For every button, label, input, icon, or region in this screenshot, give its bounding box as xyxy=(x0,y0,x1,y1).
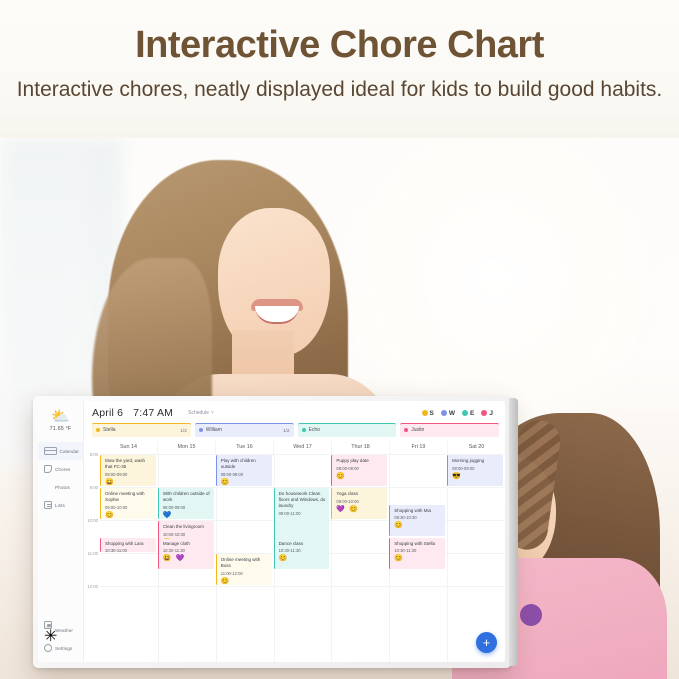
legend-dot-icon xyxy=(422,410,428,416)
person-name: William xyxy=(206,427,222,433)
person-count: 1/2 xyxy=(283,428,289,433)
hour-label: 11:00 xyxy=(88,551,98,556)
gear-icon xyxy=(44,644,52,652)
weather-temperature: 71.65 °F xyxy=(38,426,83,432)
event-emoji: 💜 😊 xyxy=(336,506,384,513)
event-emoji: 💙 xyxy=(163,512,211,519)
event-time: 10:30-11:30 xyxy=(163,548,211,553)
current-time: 7:47 AM xyxy=(133,407,173,419)
legend-label: S xyxy=(430,410,434,417)
day-header[interactable]: Tue 16 xyxy=(215,441,273,454)
event-title: Clean the livingroom xyxy=(163,524,211,530)
calendar-event[interactable]: Shopping with Stella10:30-11:30😊 xyxy=(389,538,445,569)
event-emoji: 😊 xyxy=(221,578,269,585)
person-dot-icon xyxy=(302,428,306,432)
sidebar-item-label: Weather xyxy=(55,628,73,633)
hour-label: 8:00 xyxy=(90,452,98,457)
calendar-event[interactable]: Online meeting with Sophie09:00-10:00😊 xyxy=(100,488,156,519)
promo-subtitle: Interactive chores, neatly displayed ide… xyxy=(0,66,679,104)
event-time: 09:00-11:00 xyxy=(279,511,327,516)
event-time: 09:30-10:30 xyxy=(394,515,442,520)
calendar-event[interactable]: With children outside of work08:00-09:00… xyxy=(158,488,214,519)
event-time: 10:30-11:30 xyxy=(279,548,327,553)
legend-dot-icon xyxy=(481,410,487,416)
sidebar-spacer xyxy=(38,514,83,621)
tablet-screen: ⛅ 71.65 °F Calendar Chores Photos xyxy=(38,401,505,662)
person-tabs: Stella 1/2 William 1/2 Echo Justin xyxy=(84,423,505,441)
legend-item-w[interactable]: W xyxy=(441,410,455,417)
weather-widget[interactable]: ⛅ 71.65 °F xyxy=(38,405,83,438)
weather-icon: ✳ xyxy=(44,626,52,634)
sidebar-item-label: Chores xyxy=(55,467,70,472)
legend-dot-icon xyxy=(441,410,447,416)
event-time: 08:00-09:00 xyxy=(336,466,384,471)
calendar-event[interactable]: Play with children outside08:00-09:00😊 xyxy=(216,455,272,486)
current-date: April 6 xyxy=(92,407,123,419)
person-name: Stella xyxy=(103,427,116,433)
event-title: Shopping with Mia xyxy=(394,508,442,514)
event-time: 10:30-11:30 xyxy=(394,548,442,553)
event-emoji: 😊 xyxy=(221,479,269,486)
event-emoji: 😊 xyxy=(394,555,442,562)
calendar-event[interactable]: Dance class10:30-11:30😊 xyxy=(274,538,330,569)
event-title: Dance class xyxy=(279,541,327,547)
event-title: Yoga class xyxy=(336,491,384,497)
event-time: 08:00-09:00 xyxy=(452,466,500,471)
sidebar-item-calendar[interactable]: Calendar xyxy=(38,442,83,460)
event-emoji: 😎 xyxy=(452,473,500,480)
sidebar-item-label: Settings xyxy=(55,646,72,651)
event-time: 08:00-09:00 xyxy=(221,472,269,477)
legend: S W E J xyxy=(422,410,497,417)
sidebar-nav: Calendar Chores Photos Lists xyxy=(38,442,83,514)
person-dot-icon xyxy=(404,428,408,432)
sidebar-item-lists[interactable]: Lists xyxy=(38,496,83,514)
legend-label: J xyxy=(489,410,493,417)
add-event-button[interactable]: + xyxy=(476,632,497,653)
calendar-event[interactable]: Clean the livingroom10:00-10:30😊 xyxy=(158,521,214,539)
event-time: 08:00-09:00 xyxy=(105,472,153,477)
hour-label: 9:00 xyxy=(90,485,98,490)
day-header[interactable]: Thur 18 xyxy=(331,441,389,454)
person-dot-icon xyxy=(96,428,100,432)
person-tab-justin[interactable]: Justin xyxy=(400,423,499,437)
day-header[interactable]: Wed 17 xyxy=(273,441,331,454)
event-title: Online meeting with Sophie xyxy=(105,491,153,503)
event-title: Morning jogging xyxy=(452,458,500,464)
calendar-event[interactable]: Yoga class09:00-10:00💜 😊 xyxy=(331,488,387,519)
event-title: Manage cloth xyxy=(163,541,211,547)
view-selector[interactable]: Schedule ˅ xyxy=(185,409,217,417)
legend-item-j[interactable]: J xyxy=(481,410,493,417)
person-count: 1/2 xyxy=(180,428,186,433)
person-tab-william[interactable]: William 1/2 xyxy=(195,423,294,437)
event-time: 08:00-09:00 xyxy=(163,505,211,510)
main-panel: April 6 7:47 AM Schedule ˅ S W xyxy=(84,401,505,662)
sidebar-item-label: Lists xyxy=(55,503,65,508)
event-time: 09:00-10:00 xyxy=(105,505,153,510)
day-header[interactable]: Mon 15 xyxy=(157,441,215,454)
event-title: With children outside of work xyxy=(163,491,211,503)
partly-cloudy-icon: ⛅ xyxy=(38,409,83,424)
calendar-icon xyxy=(44,447,57,455)
event-title: Mow the yard, wash that FC-35 xyxy=(105,458,153,470)
event-title: Shopping with Stella xyxy=(394,541,442,547)
event-emoji: 😊 xyxy=(336,473,384,480)
day-header-row: Sun 14Mon 15Tue 16Wed 17Thur 18Fri 19Sat… xyxy=(100,441,505,454)
calendar-grid: 8:009:0010:0011:0012:00 Sun 14Mon 15Tue … xyxy=(84,441,505,662)
topbar: April 6 7:47 AM Schedule ˅ S W xyxy=(84,401,505,423)
calendar-event[interactable]: Puppy play date08:00-09:00😊 xyxy=(331,455,387,486)
legend-item-e[interactable]: E xyxy=(462,410,474,417)
tablet-side-edge xyxy=(509,398,518,666)
person-tab-echo[interactable]: Echo xyxy=(298,423,397,437)
event-time: 10:30-11:00 xyxy=(105,548,153,552)
sidebar-item-label: Photos xyxy=(55,485,70,490)
sidebar-item-label: Calendar xyxy=(60,449,79,454)
grid-body[interactable]: Mow the yard, wash that FC-3508:00-09:00… xyxy=(100,454,505,662)
day-header[interactable]: Fri 19 xyxy=(389,441,447,454)
calendar-event[interactable]: Shopping with Mia09:30-10:30😊 xyxy=(389,505,445,536)
event-emoji: 😄 xyxy=(105,479,153,486)
person-name: Justin xyxy=(411,427,424,433)
event-emoji: 😊 xyxy=(105,512,153,519)
calendar-event[interactable]: Online meeting with Boss11:00-12:00😊 xyxy=(216,554,272,585)
sidebar: ⛅ 71.65 °F Calendar Chores Photos xyxy=(38,401,84,662)
event-title: Do housework Clean floors and Windows, d… xyxy=(279,491,327,509)
sidebar-item-chores[interactable]: Chores xyxy=(38,460,83,478)
promo-title: Interactive Chore Chart xyxy=(0,0,679,66)
view-selector-label: Schedule xyxy=(188,410,209,416)
calendar-event[interactable]: Morning jogging08:00-09:00😎 xyxy=(447,455,503,486)
event-emoji: 😊 xyxy=(394,522,442,529)
calendar-event[interactable]: Shopping with Lara10:30-11:00 xyxy=(100,538,156,553)
day-header[interactable]: Sat 20 xyxy=(447,441,505,454)
event-title: Shopping with Lara xyxy=(105,541,153,547)
event-title: Play with children outside xyxy=(221,458,269,470)
tablet-device: ⛅ 71.65 °F Calendar Chores Photos xyxy=(33,396,511,668)
chevron-down-icon: ˅ xyxy=(211,410,214,416)
lists-icon xyxy=(44,501,52,509)
hour-axis: 8:009:0010:0011:0012:00 xyxy=(84,441,100,662)
event-time: 09:00-10:00 xyxy=(336,499,384,504)
event-title: Puppy play date xyxy=(336,458,384,464)
person-tab-stella[interactable]: Stella 1/2 xyxy=(92,423,191,437)
legend-dot-icon xyxy=(462,410,468,416)
grid-hline xyxy=(100,454,505,455)
event-title: Online meeting with Boss xyxy=(221,557,269,569)
promo-banner: Interactive Chore Chart Interactive chor… xyxy=(0,0,679,148)
hour-label: 10:00 xyxy=(87,518,98,523)
calendar-event[interactable]: Mow the yard, wash that FC-3508:00-09:00… xyxy=(100,455,156,486)
person-dot-icon xyxy=(199,428,203,432)
event-emoji: 😃 💜 xyxy=(163,555,211,562)
day-columns: Sun 14Mon 15Tue 16Wed 17Thur 18Fri 19Sat… xyxy=(100,441,505,662)
hair-tie xyxy=(520,604,542,626)
legend-label: E xyxy=(470,410,474,417)
event-time: 10:00-10:30 xyxy=(163,532,211,537)
chores-icon xyxy=(44,465,52,473)
person-name: Echo xyxy=(309,427,320,433)
day-header[interactable]: Sun 14 xyxy=(100,441,157,454)
grid-hline xyxy=(100,586,505,587)
calendar-event[interactable]: Manage cloth10:30-11:30😃 💜 xyxy=(158,538,214,569)
event-emoji: 😊 xyxy=(279,555,327,562)
legend-item-s[interactable]: S xyxy=(422,410,434,417)
hour-label: 12:00 xyxy=(87,584,98,589)
legend-label: W xyxy=(449,410,455,417)
event-time: 11:00-12:00 xyxy=(221,571,269,576)
sidebar-item-photos[interactable]: Photos xyxy=(38,478,83,496)
